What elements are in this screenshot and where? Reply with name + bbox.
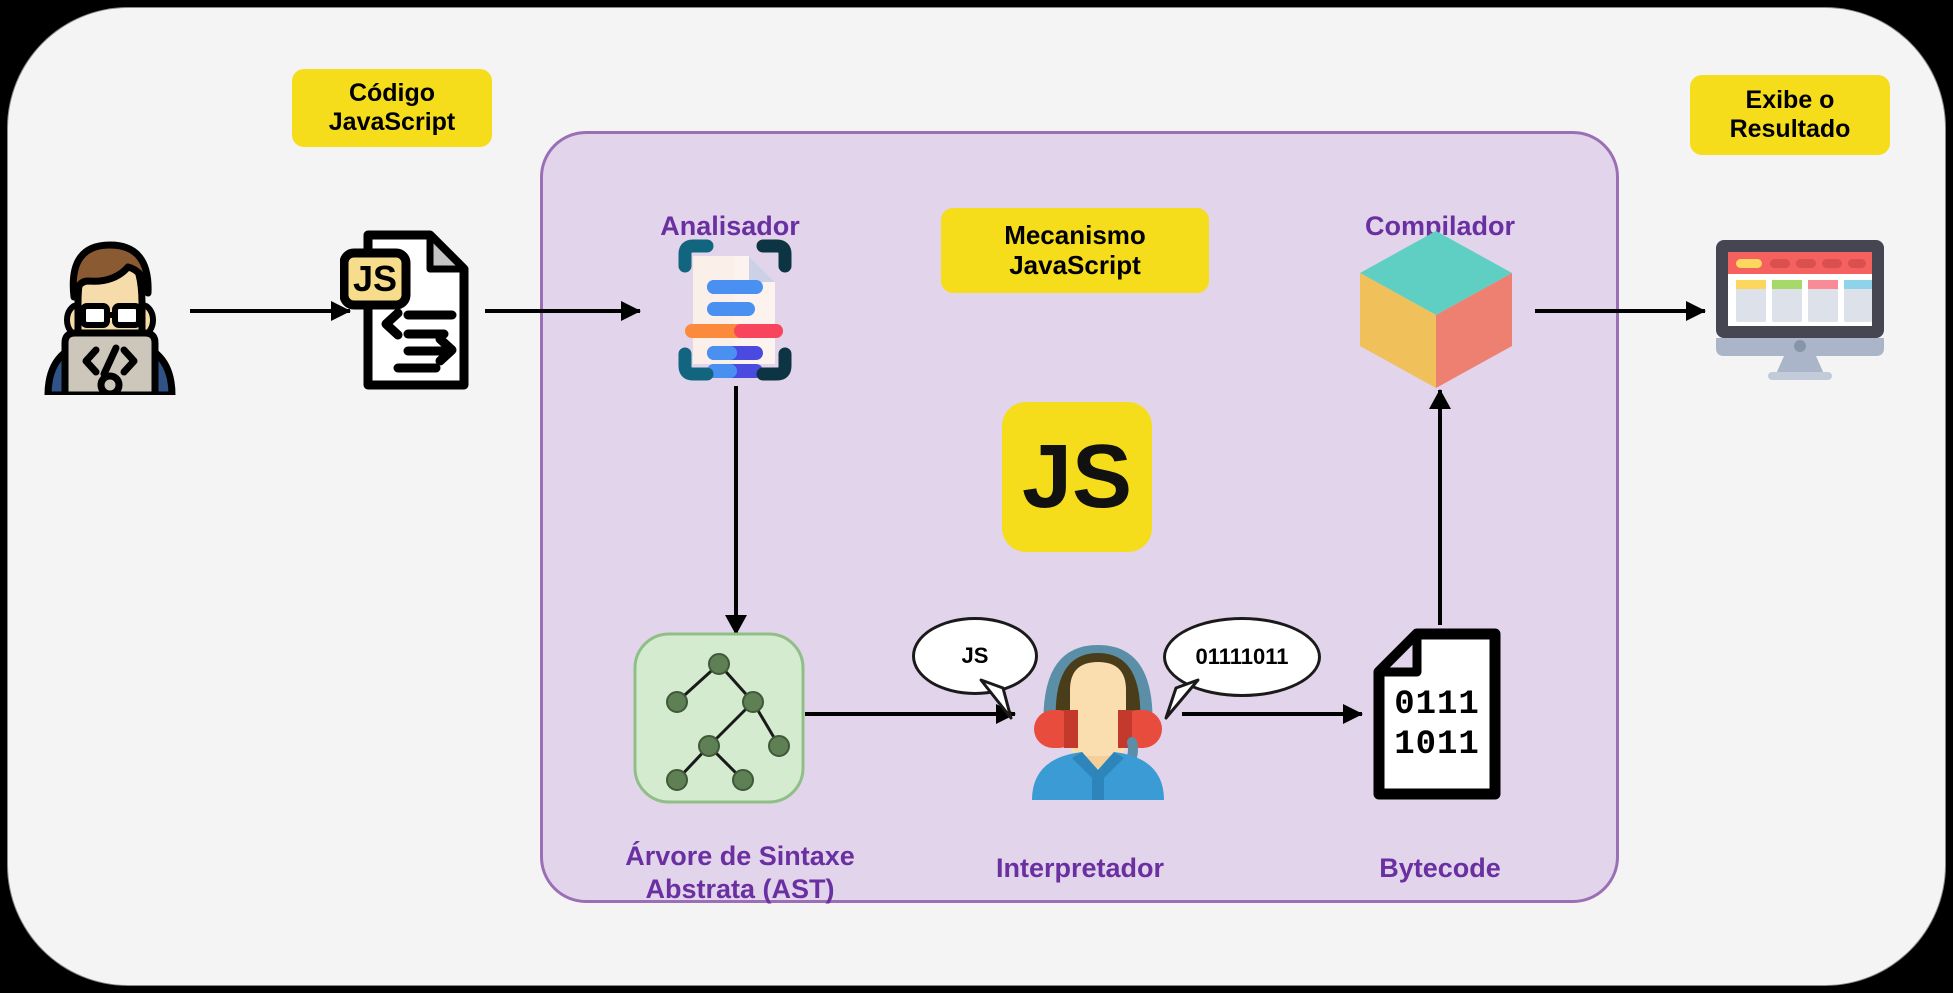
compilador-cube-icon: [1356, 227, 1516, 392]
arrow-interpretador-to-bytecode: [1182, 712, 1362, 716]
bytecode-text-line2: 1011: [1373, 726, 1501, 764]
speech-bubble-input-text: JS: [962, 643, 989, 669]
js-file-badge-text: JS: [344, 253, 406, 305]
diagram-canvas: Código JavaScript Exibe o Resultado Meca…: [0, 0, 1953, 993]
arrow-file-to-analisador: [485, 309, 640, 313]
ast-tree-icon: [633, 632, 805, 804]
bytecode-file-icon: 0111 1011: [1373, 628, 1501, 800]
arrow-compilador-to-monitor: [1535, 309, 1705, 313]
arrow-analisador-to-ast: [734, 386, 738, 634]
javascript-logo-icon: JS: [1002, 402, 1152, 552]
label-exibe-resultado: Exibe o Resultado: [1690, 75, 1890, 155]
label-ast-text: Árvore de Sintaxe Abstrata (AST): [625, 841, 855, 903]
label-mecanismo-javascript-text: Mecanismo JavaScript: [1004, 221, 1146, 281]
arrow-developer-to-file: [190, 309, 350, 313]
label-bytecode: Bytecode: [1320, 820, 1560, 885]
speech-bubble-output: 01111011: [1163, 617, 1321, 697]
label-mecanismo-javascript: Mecanismo JavaScript: [941, 208, 1209, 293]
bytecode-text-line1: 0111: [1373, 686, 1501, 724]
monitor-icon: [1712, 238, 1888, 383]
speech-bubble-output-text: 01111011: [1195, 644, 1288, 670]
speech-bubble-input: JS: [912, 617, 1038, 695]
javascript-logo-text: JS: [1022, 432, 1132, 522]
label-codigo-javascript: Código JavaScript: [292, 69, 492, 147]
developer-icon: [30, 225, 190, 395]
label-exibe-resultado-text: Exibe o Resultado: [1730, 86, 1851, 144]
label-interpretador: Interpretador: [930, 820, 1230, 885]
analisador-scanner-icon: [655, 228, 815, 388]
label-codigo-javascript-text: Código JavaScript: [329, 79, 455, 137]
label-bytecode-text: Bytecode: [1379, 853, 1501, 883]
javascript-file-icon: JS: [340, 225, 490, 395]
label-ast: Árvore de Sintaxe Abstrata (AST): [570, 808, 910, 905]
label-interpretador-text: Interpretador: [996, 853, 1164, 883]
arrow-bytecode-to-compilador: [1438, 390, 1442, 625]
